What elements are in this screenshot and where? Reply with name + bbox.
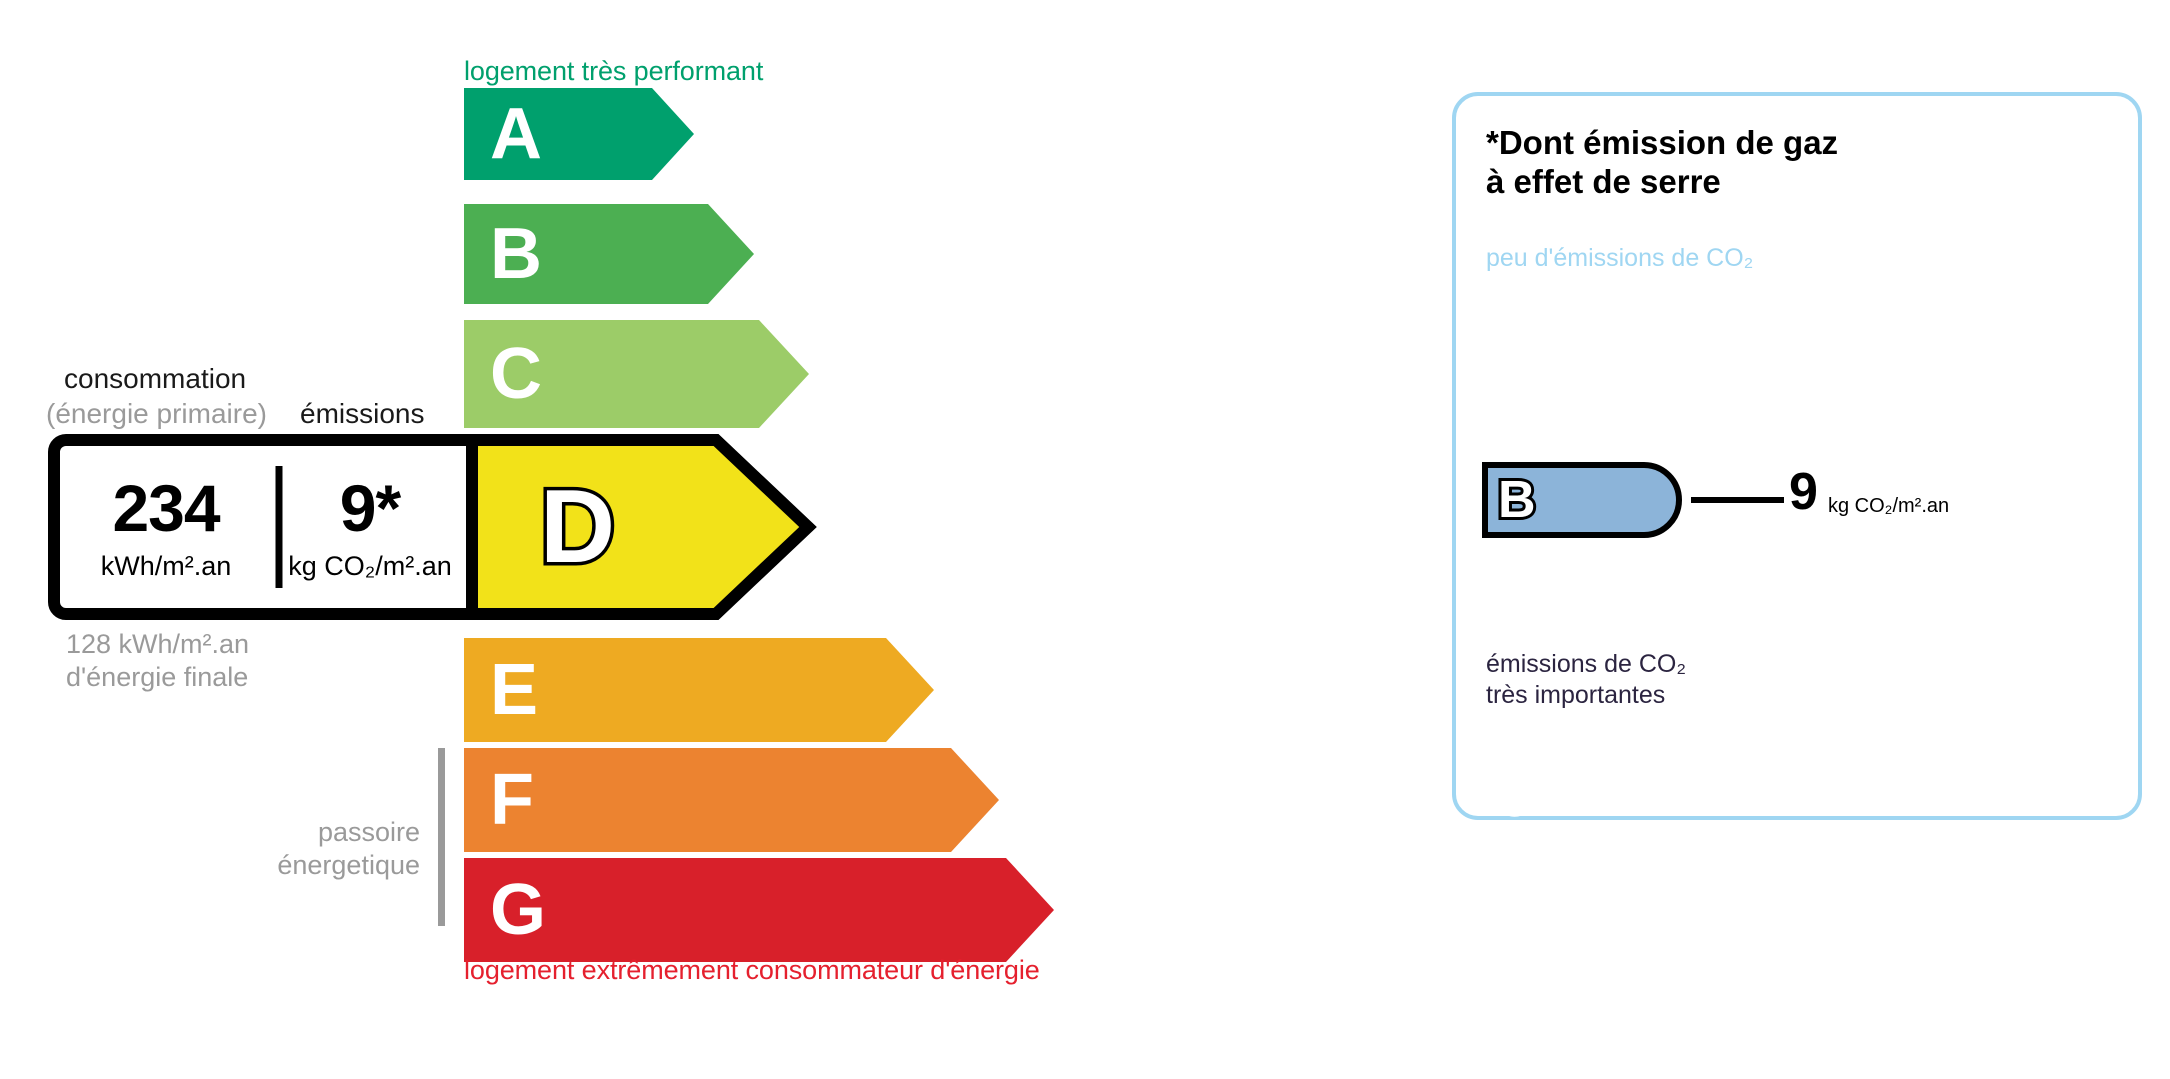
final-energy-value: 128 kWh/m².an <box>66 628 249 661</box>
co2-class-row-g[interactable]: G <box>1486 778 1868 830</box>
final-energy-caption: d'énergie finale <box>66 661 249 694</box>
energy-class-row-d-selected[interactable]: 234 kWh/m².an 9* kg CO₂/m².an D <box>48 434 958 620</box>
energy-class-row-c[interactable]: C <box>464 320 809 428</box>
co2-emissions-panel: *Dont émission de gaz à effet de serre p… <box>1452 92 2142 820</box>
co2-class-row-f[interactable]: F <box>1486 720 1830 772</box>
co2-callout-value: 9 <box>1789 466 1818 518</box>
energy-performance-scale: logement très performant ABCEFG 234 kWh/… <box>0 0 1400 1079</box>
co2-top-caption: peu d'émissions de CO₂ <box>1486 244 1753 273</box>
co2-class-row-c[interactable]: C <box>1486 546 1722 598</box>
co2-bottom-line-2: très importantes <box>1486 680 1686 711</box>
energy-class-arrow-f: F <box>464 748 999 852</box>
co2-class-letter-g: G <box>1500 786 1529 823</box>
co2-callout-unit: kg CO₂/m².an <box>1828 496 1949 516</box>
co2-class-letter-c: C <box>1500 554 1527 591</box>
scale-bottom-caption: logement extrêmement consommateur d'éner… <box>464 955 1040 986</box>
co2-class-letter-f: F <box>1500 728 1523 765</box>
co2-bottom-line-1: émissions de CO₂ <box>1486 649 1686 680</box>
energy-class-arrow-c: C <box>464 320 809 428</box>
label-emissions: émissions <box>300 398 424 430</box>
energy-class-row-a[interactable]: A <box>464 88 694 180</box>
passoire-energetique-label: passoire énergetique <box>180 816 420 882</box>
co2-callout-leader-line <box>1691 497 1784 503</box>
co2-title-line-1: *Dont émission de gaz <box>1486 124 1838 163</box>
energy-class-row-e[interactable]: E <box>464 638 934 742</box>
co2-class-letter-d: D <box>1500 612 1527 649</box>
passoire-line-1: passoire <box>180 816 420 849</box>
label-consommation: consommation <box>64 363 246 395</box>
scale-top-caption: logement très performant <box>464 56 763 87</box>
co2-title-line-2: à effet de serre <box>1486 163 1838 202</box>
co2-class-row-b-selected[interactable]: B <box>1482 462 1682 538</box>
co2-panel-title: *Dont émission de gaz à effet de serre <box>1486 124 1838 202</box>
co2-bottom-caption: émissions de CO₂ très importantes <box>1486 649 1686 710</box>
co2-bar-b <box>1482 462 1682 538</box>
energy-class-arrow-b: B <box>464 204 754 304</box>
dpe-diagram: logement très performant ABCEFG 234 kWh/… <box>0 0 2170 1079</box>
passoire-marker-bar <box>438 748 445 926</box>
energy-class-row-b[interactable]: B <box>464 204 754 304</box>
energy-class-row-g[interactable]: G <box>464 858 1054 962</box>
energy-class-arrow-g: G <box>464 858 1054 962</box>
energy-class-arrow-e: E <box>464 638 934 742</box>
passoire-line-2: énergetique <box>180 849 420 882</box>
co2-class-row-a[interactable]: A <box>1486 282 1590 328</box>
energy-class-row-f[interactable]: F <box>464 748 999 852</box>
co2-class-letter-a: A <box>1500 287 1527 324</box>
label-energie-primaire: (énergie primaire) <box>46 398 267 430</box>
energy-class-arrow-a: A <box>464 88 694 180</box>
final-energy-footnote: 128 kWh/m².an d'énergie finale <box>66 628 249 694</box>
